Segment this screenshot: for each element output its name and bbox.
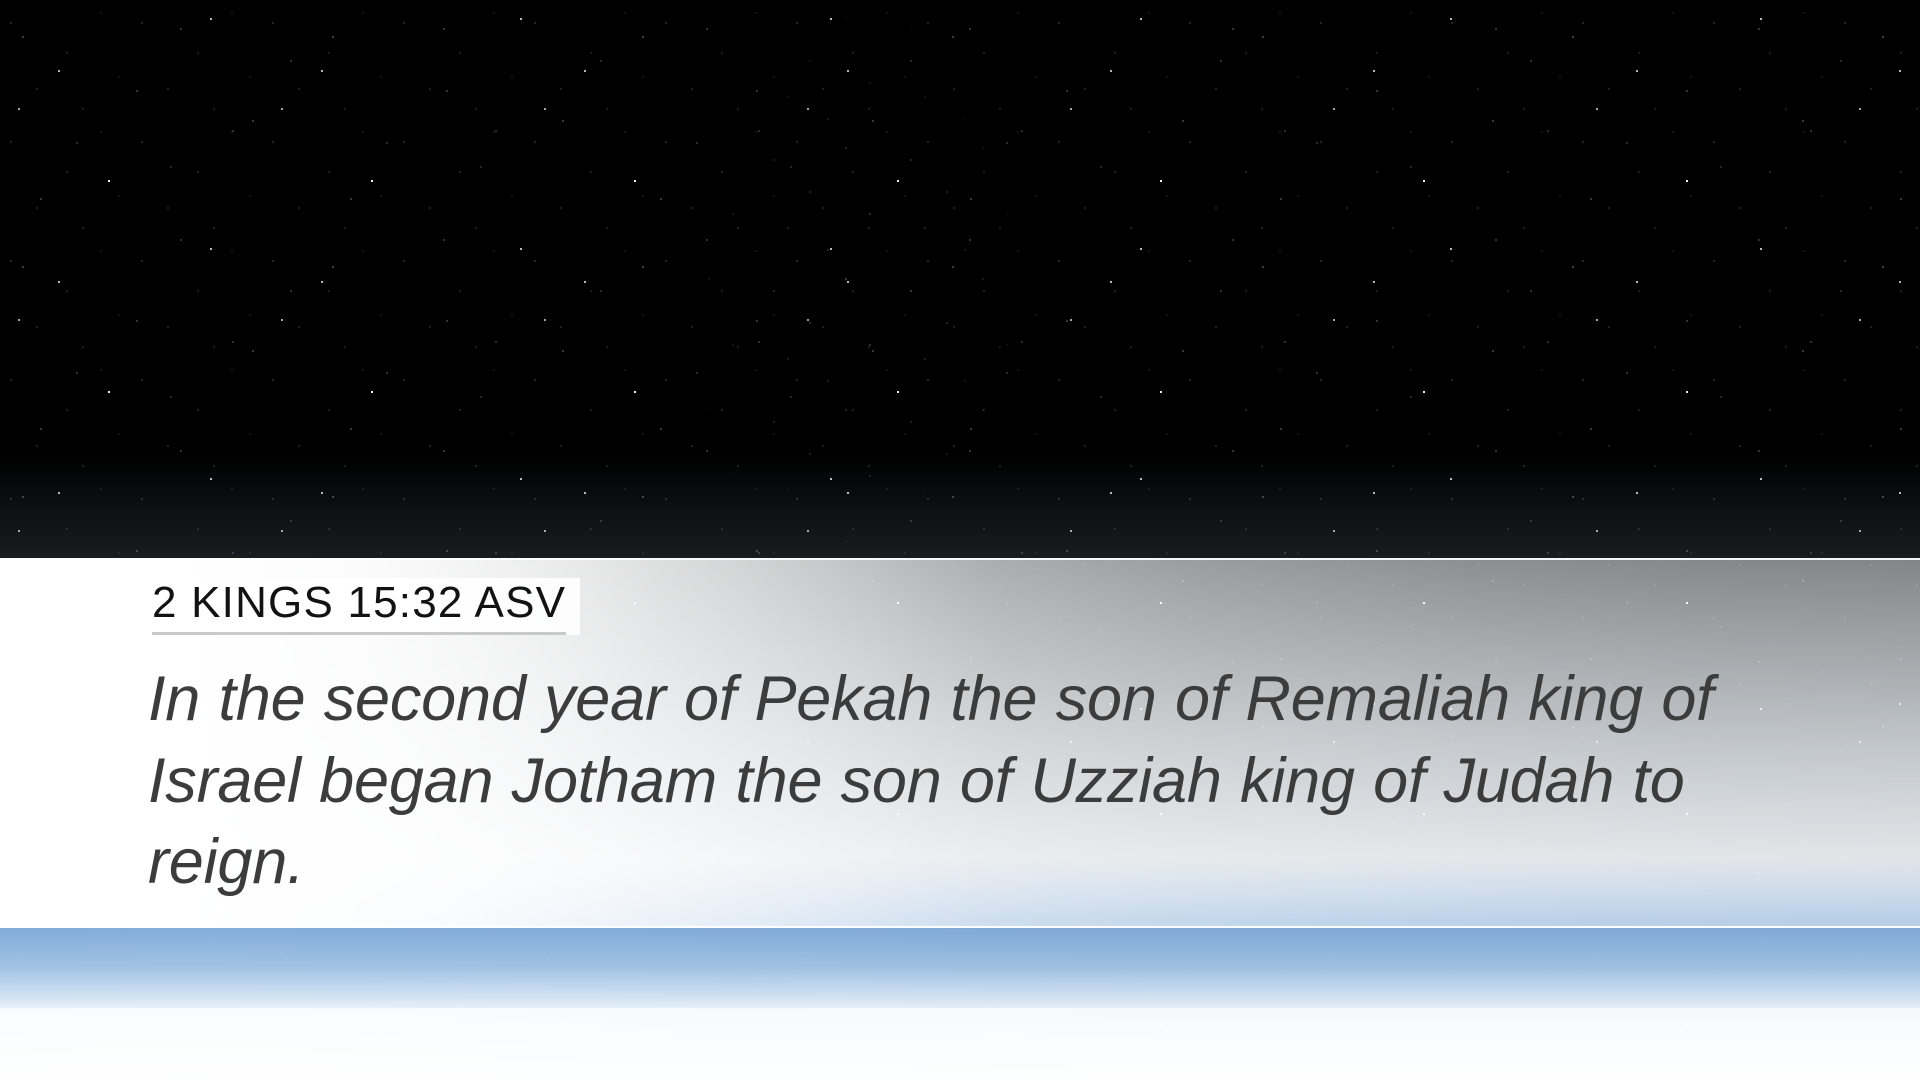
verse-reference-box: 2 KINGS 15:32 ASV [148,578,580,635]
verse-overlay-band: 2 KINGS 15:32 ASV In the second year of … [0,558,1920,928]
verse-image-canvas: 2 KINGS 15:32 ASV In the second year of … [0,0,1920,1080]
verse-reference-underline [152,632,566,635]
verse-text: In the second year of Pekah the son of R… [148,659,1808,905]
verse-reference: 2 KINGS 15:32 ASV [152,580,566,627]
verse-card: 2 KINGS 15:32 ASV In the second year of … [148,578,1860,904]
